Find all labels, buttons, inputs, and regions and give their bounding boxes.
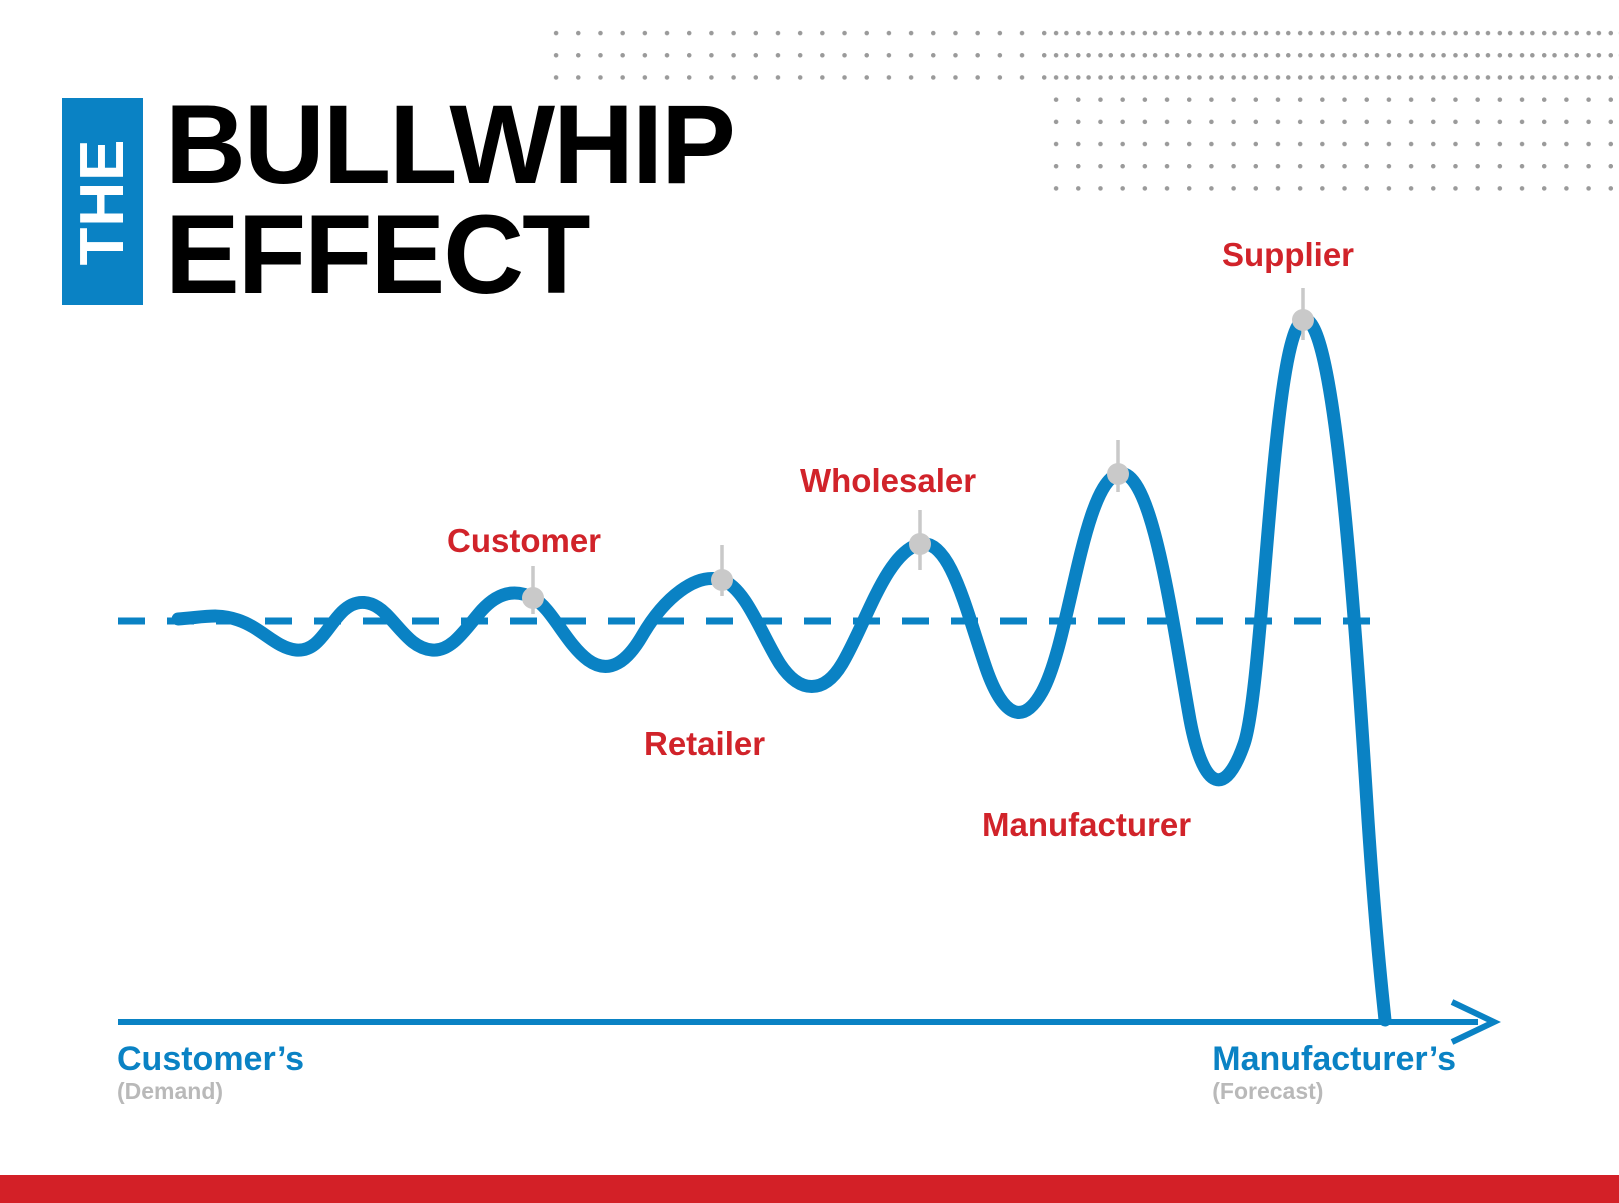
stage-marker-wholesaler bbox=[909, 510, 931, 570]
bullwhip-chart bbox=[0, 0, 1619, 1203]
stage-label-manufacturer: Manufacturer bbox=[982, 808, 1191, 841]
axis-caption-right-sub: (Forecast) bbox=[1212, 1078, 1456, 1104]
marker-dot-manufacturer bbox=[1107, 463, 1129, 485]
marker-dot-retailer bbox=[711, 569, 733, 591]
stage-label-supplier: Supplier bbox=[1222, 238, 1354, 271]
stage-label-wholesaler: Wholesaler bbox=[800, 464, 976, 497]
axis-caption-left-main: Customer’s bbox=[117, 1042, 304, 1078]
stage-label-retailer: Retailer bbox=[644, 727, 765, 760]
axis-caption-left: Customer’s (Demand) bbox=[117, 1042, 304, 1104]
axis-caption-right: Manufacturer’s (Forecast) bbox=[1212, 1042, 1456, 1104]
infographic-canvas: THE BULLWHIP EFFECT bbox=[0, 0, 1619, 1203]
bottom-accent-bar bbox=[0, 1175, 1619, 1203]
x-axis-arrow bbox=[118, 1002, 1494, 1042]
axis-caption-left-sub: (Demand) bbox=[117, 1078, 304, 1104]
marker-dot-wholesaler bbox=[909, 533, 931, 555]
stage-label-customer: Customer bbox=[447, 524, 601, 557]
axis-caption-right-main: Manufacturer’s bbox=[1212, 1042, 1456, 1078]
variability-curve bbox=[178, 320, 1385, 1020]
marker-dot-supplier bbox=[1292, 309, 1314, 331]
marker-dot-customer bbox=[522, 587, 544, 609]
